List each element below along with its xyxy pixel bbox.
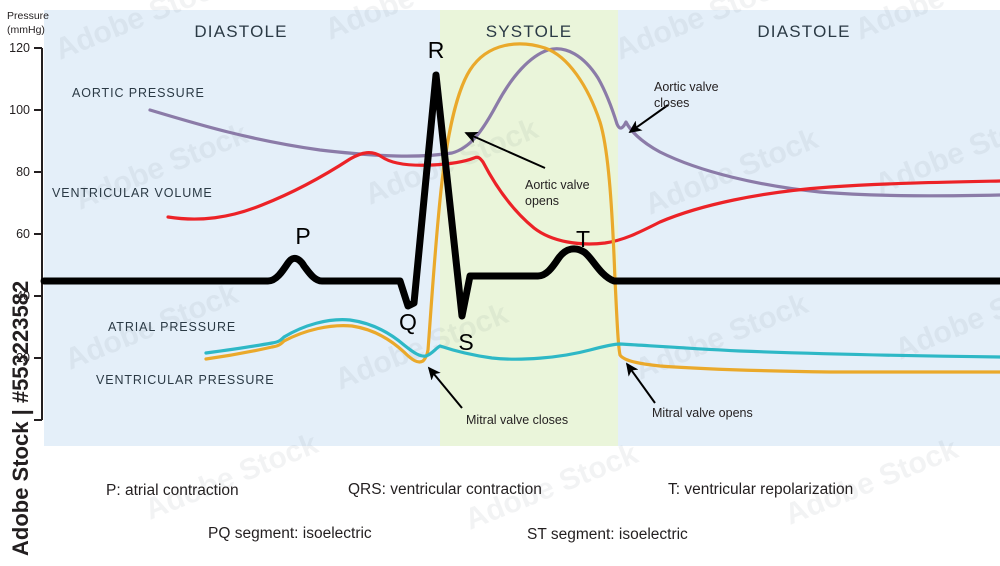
caption-st-segment: ST segment: isoelectric (527, 526, 688, 543)
y-tick-60: 60 (16, 227, 30, 241)
caption-p-atrial-contraction: P: atrial contraction (106, 482, 239, 499)
atrial-pressure-label: ATRIAL PRESSURE (108, 320, 236, 334)
phase-label-systole: SYSTOLE (486, 22, 573, 41)
ecg-letter-s: S (458, 329, 473, 355)
ecg-letter-p: P (295, 223, 310, 249)
axis-title-line2: (mmHg) (7, 24, 45, 36)
side-watermark: Adobe Stock | #553223582 (8, 281, 33, 556)
aortic-valve-opens-line1: Aortic valve (525, 178, 590, 192)
aortic-pressure-label: AORTIC PRESSURE (72, 86, 205, 100)
ecg-letter-r: R (428, 37, 445, 63)
caption-qrs-ventricular-contraction: QRS: ventricular contraction (348, 481, 542, 498)
phase-label-diastole-left: DIASTOLE (194, 22, 287, 41)
phase-label-diastole-right: DIASTOLE (757, 22, 850, 41)
mitral-valve-closes-label: Mitral valve closes (466, 413, 568, 427)
caption-t-ventricular-repolarization: T: ventricular repolarization (668, 481, 853, 498)
caption-pq-segment: PQ segment: isoelectric (208, 525, 372, 542)
diagram-canvas: Adobe Stock Adobe Stock Adobe Stock Adob… (0, 0, 1000, 566)
phase-band-diastole-right (618, 10, 1000, 446)
y-tick-120: 120 (9, 41, 30, 55)
wiggers-diagram: Adobe Stock Adobe Stock Adobe Stock Adob… (0, 0, 1000, 566)
ecg-letter-t: T (576, 226, 590, 252)
ventricular-pressure-label: VENTRICULAR PRESSURE (96, 373, 274, 387)
aortic-valve-closes-line1: Aortic valve (654, 80, 719, 94)
y-tick-80: 80 (16, 165, 30, 179)
y-tick-100: 100 (9, 103, 30, 117)
y-axis-title: Pressure (mmHg) (7, 10, 49, 36)
ventricular-volume-label: VENTRICULAR VOLUME (52, 186, 213, 200)
aortic-valve-opens-line2: opens (525, 194, 559, 208)
ecg-letter-q: Q (399, 309, 417, 335)
mitral-valve-opens-label: Mitral valve opens (652, 406, 753, 420)
axis-title-line1: Pressure (7, 10, 49, 22)
side-watermark-text: Adobe Stock | #553223582 (8, 281, 33, 556)
y-axis (34, 48, 42, 420)
aortic-valve-closes-line2: closes (654, 96, 689, 110)
